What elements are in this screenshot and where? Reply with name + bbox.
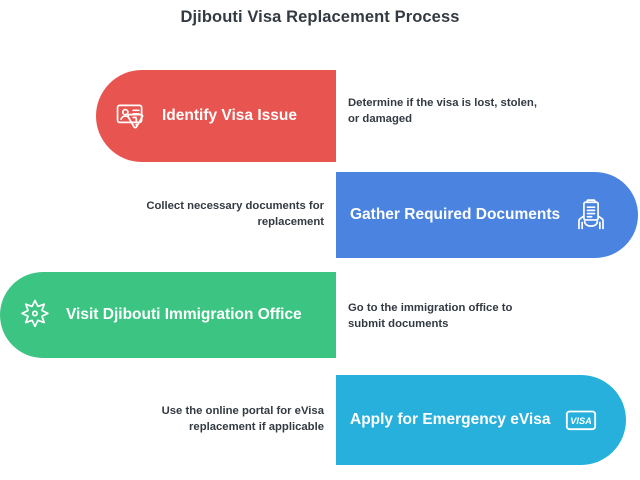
step-bar-3[interactable]: Visit Djibouti Immigration Office bbox=[0, 272, 336, 358]
step-label-2: Gather Required Documents bbox=[350, 206, 560, 224]
step-description-3: Go to the immigration office to submit d… bbox=[348, 300, 538, 332]
visa-card-icon: VISA bbox=[564, 403, 598, 437]
page-title: Djibouti Visa Replacement Process bbox=[0, 8, 640, 27]
step-bar-1[interactable]: Identify Visa Issue bbox=[96, 70, 336, 162]
step-label-4: Apply for Emergency eVisa bbox=[350, 411, 550, 429]
visa-card-text: VISA bbox=[571, 416, 592, 426]
document-in-hands-icon bbox=[574, 198, 608, 232]
step-label-3: Visit Djibouti Immigration Office bbox=[66, 306, 302, 324]
step-bar-2[interactable]: Gather Required Documents bbox=[336, 172, 638, 258]
step-description-4: Use the online portal for eVisa replacem… bbox=[134, 403, 324, 435]
step-label-1: Identify Visa Issue bbox=[162, 107, 297, 125]
eight-point-star-icon bbox=[18, 298, 52, 332]
infographic-canvas: Djibouti Visa Replacement Process Identi… bbox=[0, 0, 640, 480]
id-card-warning-icon bbox=[114, 99, 148, 133]
step-bar-4[interactable]: Apply for Emergency eVisaVISA bbox=[336, 375, 626, 465]
step-description-1: Determine if the visa is lost, stolen, o… bbox=[348, 95, 538, 127]
step-description-2: Collect necessary documents for replacem… bbox=[134, 198, 324, 230]
